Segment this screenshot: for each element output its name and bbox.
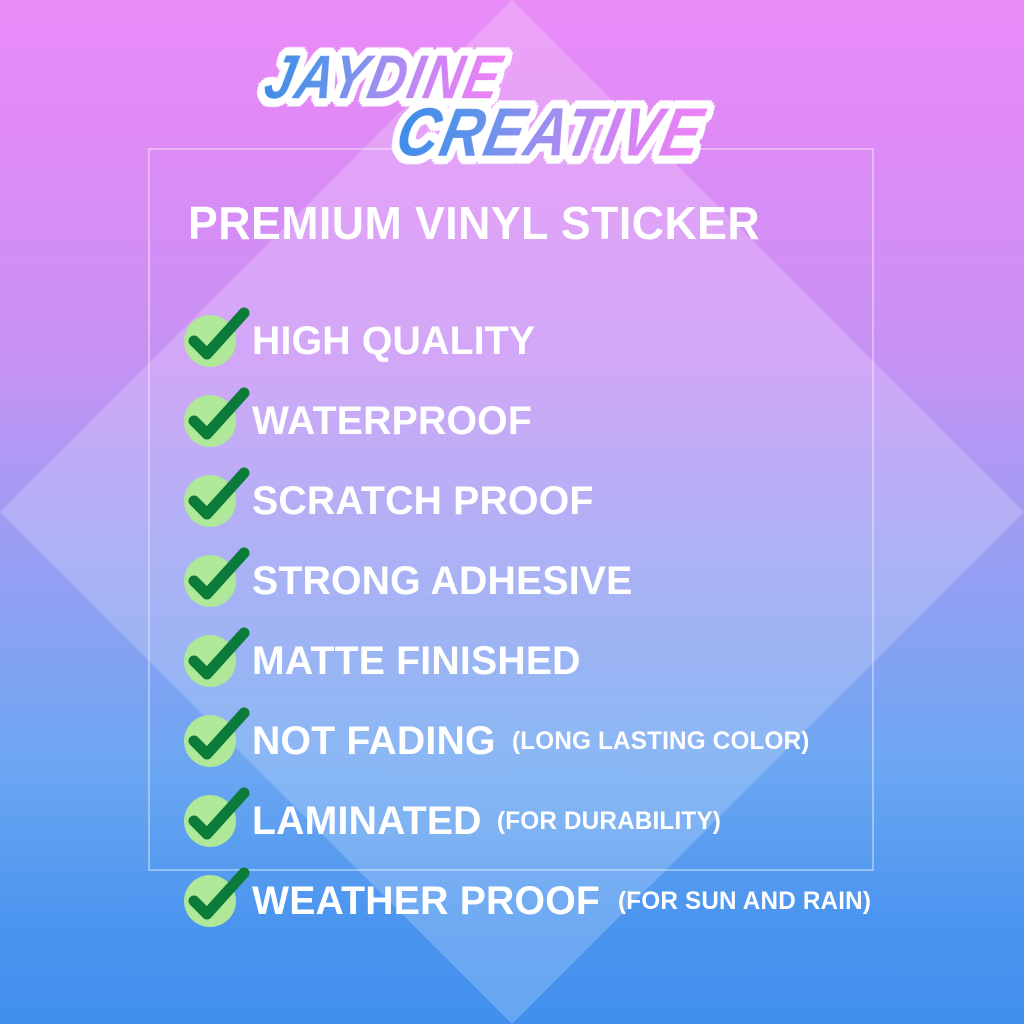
list-item: STRONG ADHESIVE — [186, 541, 986, 621]
list-item-label: SCRATCH PROOF — [252, 479, 594, 524]
list-item: SCRATCH PROOF — [186, 461, 986, 541]
list-item-label: LAMINATED — [252, 799, 482, 844]
list-item-note: (FOR DURABILITY) — [497, 807, 721, 836]
check-circle-icon — [186, 475, 238, 527]
check-circle-icon — [186, 875, 238, 927]
list-item-note: (FOR SUN AND RAIN) — [618, 887, 871, 916]
list-item-label: NOT FADING — [252, 719, 496, 764]
feature-list: HIGH QUALITY WATERPROOF SCRATCH PROOF — [186, 301, 986, 941]
list-item-note: (LONG LASTING COLOR) — [512, 727, 810, 756]
brand-logo-line-2: CREATIVE — [391, 99, 711, 167]
list-item-label: HIGH QUALITY — [252, 319, 535, 364]
list-item-label: STRONG ADHESIVE — [252, 559, 632, 604]
list-item: HIGH QUALITY — [186, 301, 986, 381]
list-item-label: MATTE FINISHED — [252, 639, 581, 684]
brand-logo: JAYDINE CREATIVE — [0, 44, 1024, 174]
page-title: PREMIUM VINYL STICKER — [188, 196, 760, 250]
check-circle-icon — [186, 715, 238, 767]
sticker-promo-poster: JAYDINE CREATIVE PREMIUM VINYL STICKER H… — [0, 0, 1024, 1024]
check-circle-icon — [186, 395, 238, 447]
check-circle-icon — [186, 315, 238, 367]
check-circle-icon — [186, 795, 238, 847]
list-item: NOT FADING (LONG LASTING COLOR) — [186, 701, 986, 781]
list-item: WEATHER PROOF (FOR SUN AND RAIN) — [186, 861, 986, 941]
list-item: WATERPROOF — [186, 381, 986, 461]
check-circle-icon — [186, 635, 238, 687]
list-item-label: WATERPROOF — [252, 399, 532, 444]
check-circle-icon — [186, 555, 238, 607]
list-item: MATTE FINISHED — [186, 621, 986, 701]
list-item-label: WEATHER PROOF — [252, 879, 600, 924]
list-item: LAMINATED (FOR DURABILITY) — [186, 781, 986, 861]
